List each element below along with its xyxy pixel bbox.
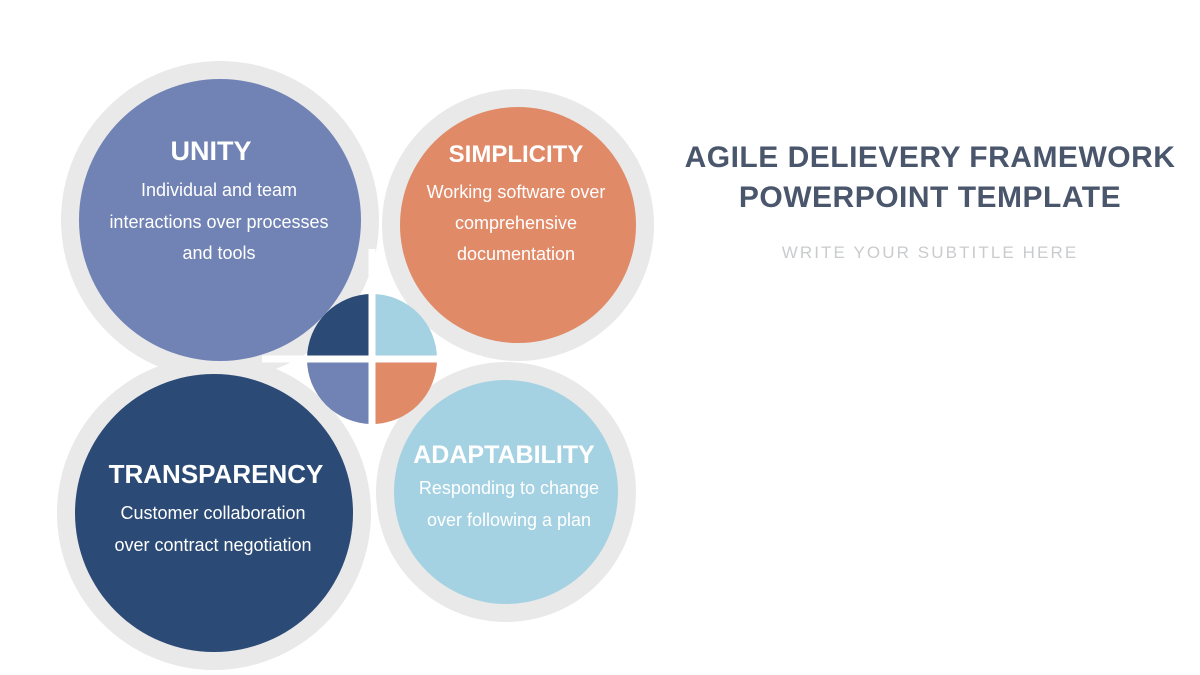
petal-body-transparency-line-2: over contract negotiation (114, 535, 311, 555)
page-title-line-1: AGILE DELIEVERY FRAMEWORK (685, 141, 1176, 174)
center-divider-horizontal (262, 356, 482, 363)
petal-title-adaptability: ADAPTABILITY (413, 441, 595, 469)
petal-body-unity-line-1: Individual and team (141, 180, 297, 200)
petal-body-simplicity-line-2: comprehensive (455, 213, 577, 233)
petal-body-simplicity-line-1: Working software over (427, 182, 606, 202)
petal-body-adaptability-line-1: Responding to change (419, 478, 599, 498)
page-title-line-2: POWERPOINT TEMPLATE (739, 181, 1121, 214)
agile-values-pinwheel-diagram: UNITY Individual and team interactions o… (0, 0, 680, 675)
petal-body-transparency-line-1: Customer collaboration (120, 503, 305, 523)
petal-body-adaptability-line-2: over following a plan (427, 510, 591, 530)
heading-block: AGILE DELIEVERY FRAMEWORK POWERPOINT TEM… (662, 138, 1198, 263)
petal-body-simplicity-line-3: documentation (457, 244, 575, 264)
page-subtitle: WRITE YOUR SUBTITLE HERE (662, 243, 1198, 263)
page-title: AGILE DELIEVERY FRAMEWORK POWERPOINT TEM… (662, 138, 1198, 217)
petal-title-simplicity: SIMPLICITY (449, 141, 584, 168)
petal-body-unity-line-2: interactions over processes (109, 212, 328, 232)
slide-canvas: UNITY Individual and team interactions o… (0, 0, 1200, 675)
petal-title-unity: UNITY (171, 136, 252, 166)
diagram-svg: UNITY Individual and team interactions o… (0, 0, 680, 675)
petal-body-unity-line-3: and tools (182, 243, 255, 263)
petal-title-transparency: TRANSPARENCY (109, 459, 324, 489)
